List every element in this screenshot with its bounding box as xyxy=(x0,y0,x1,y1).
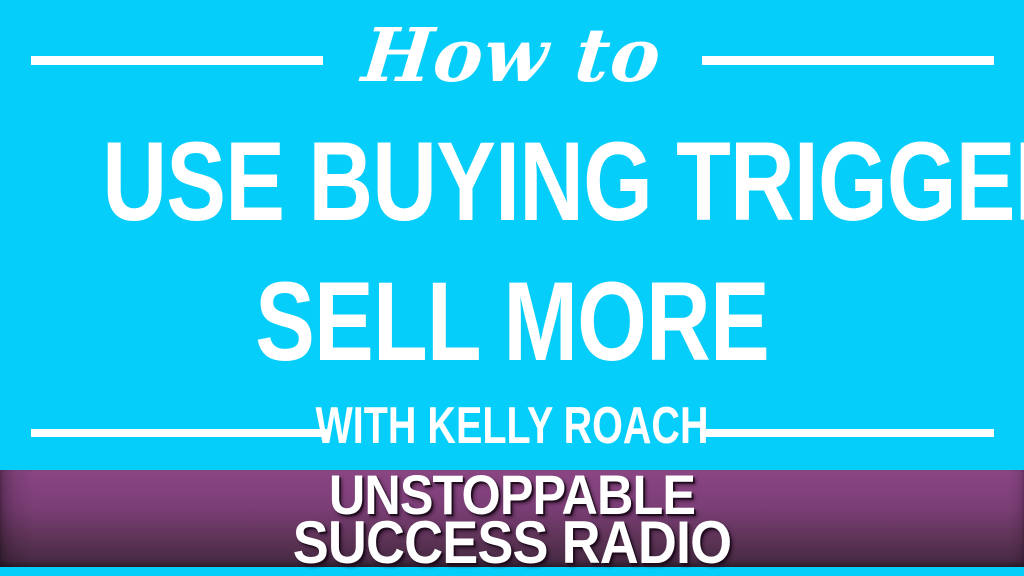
presenter-row: With Kelly Roach xyxy=(0,398,1024,456)
headline-line-1: Use Buying Triggers to xyxy=(102,112,921,252)
page-title: Use Buying Triggers to Sell More xyxy=(102,112,921,392)
show-brand-line-2: Success Radio xyxy=(51,512,973,574)
eyebrow-label: How to xyxy=(0,0,1024,112)
presenter-label: With Kelly Roach xyxy=(123,398,901,454)
episode-title-card: How to Use Buying Triggers to Sell More … xyxy=(0,0,1024,576)
headline-line-2: Sell More xyxy=(102,252,921,392)
show-brand-banner: Unstoppable Success Radio xyxy=(0,470,1024,567)
eyebrow-row: How to xyxy=(0,0,1024,118)
